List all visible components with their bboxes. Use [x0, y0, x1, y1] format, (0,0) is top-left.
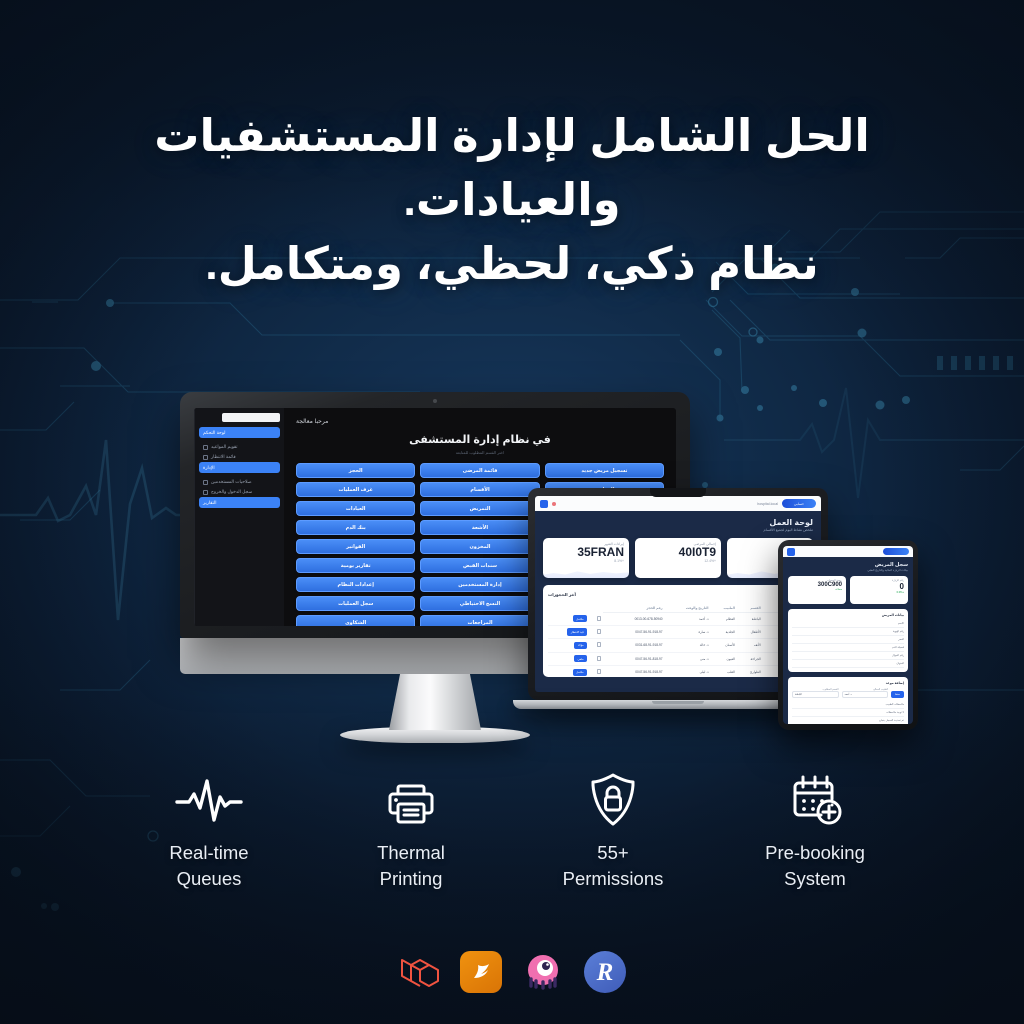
- sidebar-group-header[interactable]: الإدارة: [199, 462, 280, 473]
- stat-card-delta: +12.4%: [640, 559, 716, 563]
- monitor-stand-neck: [389, 674, 481, 730]
- table-row[interactable]: 09005-0046الجراحةالعيوند. منى0047-56-91-…: [548, 652, 808, 665]
- notification-dot-icon: [552, 502, 556, 506]
- sidebar-item-icon: [203, 490, 208, 495]
- document-icon: [597, 642, 601, 647]
- save-appointment-button[interactable]: حفظ: [891, 691, 904, 698]
- sidebar-menu-item[interactable]: قائمة الانتظار: [199, 452, 280, 462]
- stat-card: إيرادات الشهر35FRAN+8.1%: [543, 538, 629, 578]
- sidebar-groups: لوحة التحكمتقويم المواعيدقائمة الانتظارا…: [199, 427, 280, 508]
- calendar-plus-icon: [785, 772, 845, 828]
- form-footer-status: تم تحديث السجل بنجاح: [792, 717, 904, 724]
- monitor-subtitle: اختر القسم المطلوب للمتابعة: [296, 450, 664, 455]
- appointment-form-title: إضافة موعد: [792, 681, 904, 685]
- row-status-cell: مكتمل: [548, 613, 589, 626]
- table-cell: الأنف: [737, 639, 763, 652]
- status-badge[interactable]: مكتمل: [573, 615, 588, 622]
- document-icon: [597, 656, 601, 661]
- filament-logo[interactable]: [460, 951, 502, 993]
- reverb-glyph: R: [597, 960, 614, 985]
- row-status-cell: قيد الانتظار: [548, 625, 589, 638]
- chrome-url-text: hospital.local: [757, 502, 778, 506]
- sparkline-chart: [543, 567, 629, 578]
- tablet-stat-card: رقم الزيارة0+0.0%: [850, 576, 908, 604]
- feature-label-line1: Pre-booking: [765, 840, 865, 866]
- monitor-grid-button[interactable]: الفواتير: [296, 539, 415, 554]
- chrome-right-group: hospital.local حسابي: [757, 499, 816, 508]
- table-cell: د. سارة: [665, 625, 711, 638]
- tablet-stat-delta: محدّث: [792, 588, 842, 591]
- table-cell: د. أحمد: [665, 613, 711, 626]
- stat-card-delta: +8.1%: [548, 559, 624, 563]
- reverb-logo[interactable]: R: [584, 951, 626, 993]
- webcam-icon: [433, 399, 437, 403]
- monitor-grid-button[interactable]: سجل العمليات: [296, 596, 415, 611]
- document-icon: [597, 669, 601, 674]
- feature-label-line2: Printing: [377, 866, 445, 892]
- feature-label-line2: Queues: [169, 866, 248, 892]
- doctor-field-input[interactable]: د. أحمد: [842, 691, 889, 698]
- tablet-bezel: سجل المريض بيانات الزيارة الحالية والتار…: [778, 540, 918, 730]
- table-cell: الطوارئ: [737, 666, 763, 678]
- table-row[interactable]: 00009090-5608الباطنةالعظامد. أحمد0013-00…: [548, 613, 808, 626]
- tablet-stat-row: رقم الزيارة0+0.0%رصيد الحساب300C900محدّث: [788, 576, 908, 604]
- status-badge[interactable]: ملغي: [574, 655, 587, 662]
- feature-label: 55+ Permissions: [563, 840, 664, 893]
- table-cell: 0031-68-91-918-97: [603, 639, 665, 652]
- sidebar-menu-item[interactable]: سجل الدخول والخروج: [199, 487, 280, 497]
- monitor-grid-button[interactable]: قائمة المرضى: [420, 463, 539, 478]
- account-button[interactable]: حسابي: [782, 499, 816, 508]
- table-column-header: الطبيب: [711, 603, 737, 613]
- tablet-header-subtitle: بيانات الزيارة الحالية والتاريخ الطبي: [788, 568, 908, 572]
- status-badge[interactable]: مكتمل: [573, 669, 588, 676]
- table-cell: 0047-56-91-918-97: [603, 666, 665, 678]
- laptop-notch: [650, 488, 706, 497]
- row-document-icon: [589, 625, 603, 638]
- patient-info-line: رقم الجوال: [792, 652, 904, 660]
- table-column-header: رقم الحجز: [603, 603, 665, 613]
- monitor-grid-button[interactable]: بنك الدم: [296, 520, 415, 535]
- shield-lock-icon: [587, 772, 639, 828]
- feature-row: Real-time Queues Thermal Printing: [0, 772, 1024, 912]
- feature-label-line1: Real-time: [169, 840, 248, 866]
- stat-card: إجمالي المرضى40I0T9+12.4%: [635, 538, 721, 578]
- tablet-device: سجل المريض بيانات الزيارة الحالية والتار…: [778, 540, 918, 730]
- document-icon: [597, 629, 601, 634]
- table-cell: الأطفال: [737, 625, 763, 638]
- row-status-cell: ملغي: [548, 652, 589, 665]
- patient-info-line: العنوان: [792, 660, 904, 668]
- sidebar-item-icon: [203, 455, 208, 460]
- row-document-icon: [589, 613, 603, 626]
- feature-label-line1: 55+: [563, 840, 664, 866]
- tablet-content: سجل المريض بيانات الزيارة الحالية والتار…: [783, 557, 913, 724]
- tablet-stat-delta: +0.0%: [854, 591, 904, 594]
- patient-info-lines: الاسمرقم الهويةالعمرفصيلة الدمرقم الجوال…: [792, 620, 904, 668]
- sidebar-item-label: سجل الدخول والخروج: [211, 489, 252, 495]
- monitor-grid-button[interactable]: التمريض: [420, 501, 539, 516]
- monitor-sidebar[interactable]: لوحة التحكمتقويم المواعيدقائمة الانتظارا…: [194, 408, 284, 626]
- status-badge[interactable]: قيد الانتظار: [567, 628, 587, 635]
- table-cell: العيون: [711, 652, 737, 665]
- sidebar-menu-item[interactable]: صلاحيات المستخدمين: [199, 477, 280, 487]
- sidebar-item-label: صلاحيات المستخدمين: [211, 479, 252, 485]
- headline-line-1: الحل الشامل لإدارة المستشفيات والعيادات.: [154, 110, 870, 225]
- monitor-grid-button[interactable]: سندات القبض: [420, 558, 539, 573]
- stat-card-row: حجوزات اليوم0+0.0%إجمالي المرضى40I0T9+12…: [543, 538, 813, 578]
- monitor-grid-button[interactable]: تقارير يومية: [296, 558, 415, 573]
- feature-label-line2: System: [765, 866, 865, 892]
- sidebar-menu-item[interactable]: تقويم المواعيد: [199, 442, 280, 452]
- table-row[interactable]: 00409045-5004الطوارئالقلبد. ليلى0047-56-…: [548, 666, 808, 678]
- sidebar-search-bar[interactable]: [222, 413, 280, 422]
- feature-label: Real-time Queues: [169, 840, 248, 893]
- table-cell: 0047-56-91-918-97: [603, 625, 665, 638]
- app-logo-icon: [540, 500, 548, 508]
- table-cell: الجلدية: [711, 625, 737, 638]
- table-cell: القلب: [711, 666, 737, 678]
- printer-icon: [383, 772, 439, 828]
- monitor-grid-button[interactable]: المراجعات: [420, 615, 539, 626]
- table-cell: د. خالد: [665, 639, 711, 652]
- monitor-grid-button[interactable]: الأقسام: [420, 482, 539, 497]
- sidebar-group-header[interactable]: لوحة التحكم: [199, 427, 280, 438]
- sidebar-item-label: تقويم المواعيد: [211, 444, 238, 450]
- tablet-browser-chrome: [783, 546, 913, 557]
- bookings-table-card: حجز جديد آخر الحجوزات الحالةالقسمالطبيبا…: [543, 585, 813, 677]
- feature-label-line1: Thermal: [377, 840, 445, 866]
- monitor-grid-button[interactable]: العيادات: [296, 501, 415, 516]
- feature-label: Pre-booking System: [765, 840, 865, 893]
- sidebar-item-icon: [203, 480, 208, 485]
- monitor-grid-button[interactable]: الشكاوى: [296, 615, 415, 626]
- feature-permissions: 55+ Permissions: [512, 772, 714, 893]
- monitor-topbar-text: مرحبا معالجة: [296, 418, 664, 425]
- sidebar-item-label: قائمة الانتظار: [211, 454, 236, 460]
- patient-info-line: فصيلة الدم: [792, 644, 904, 652]
- appointment-form-row: حفظ الطبيب المعالج د. أحمد القسم المطلوب…: [792, 688, 904, 698]
- patient-info-panel: بيانات المريض الاسمرقم الهويةالعمرفصيلة …: [788, 609, 908, 672]
- monitor-grid-button[interactable]: المخزون: [420, 539, 539, 554]
- feature-real-time-queues: Real-time Queues: [108, 772, 310, 893]
- row-document-icon: [589, 639, 603, 652]
- table-row[interactable]: 00405-95204الأطفالالجلديةد. سارة0047-56-…: [548, 625, 808, 638]
- dashboard-title: لوحة العمل: [543, 518, 813, 527]
- feature-label-line2: Permissions: [563, 866, 664, 892]
- document-icon: [597, 616, 601, 621]
- table-body: 00009090-5608الباطنةالعظامد. أحمد0013-00…: [548, 613, 808, 678]
- dashboard-subtitle: ملخص نشاط اليوم لجميع الأقسام: [543, 528, 813, 532]
- stat-card-value: 40I0T9: [640, 546, 716, 559]
- patient-info-title: بيانات المريض: [792, 613, 904, 617]
- monitor-grid-button[interactable]: الحجز: [296, 463, 415, 478]
- page-title: الحل الشامل لإدارة المستشفيات والعيادات.…: [40, 104, 984, 296]
- table-row[interactable]: 00009041-5008الأنفالأسناند. خالد0031-68-…: [548, 639, 808, 652]
- tablet-account-button[interactable]: [883, 548, 909, 555]
- table-column-header: القسم: [737, 603, 763, 613]
- notes-value[interactable]: لا توجد ملاحظات: [792, 709, 904, 717]
- table-cell: الجراحة: [737, 652, 763, 665]
- stat-card-value: 35FRAN: [548, 546, 624, 559]
- table-cell: الأسنان: [711, 639, 737, 652]
- monitor-grid-button[interactable]: الأشعة: [420, 520, 539, 535]
- tablet-stat-value: 0: [854, 582, 904, 591]
- headline-line-2: نظام ذكي، لحظي، ومتكامل.: [40, 232, 984, 296]
- sidebar-group-header[interactable]: التقارير: [199, 497, 280, 508]
- table-column-headers: الحالةالقسمالطبيبالتاريخ والوقترقم الحجز: [548, 603, 808, 613]
- monitor-title: في نظام إدارة المستشفى: [296, 433, 664, 446]
- appointment-form-panel: إضافة موعد حفظ الطبيب المعالج د. أحمد ال…: [788, 677, 908, 724]
- device-mockups: مرحبا معالجة في نظام إدارة المستشفى اختر…: [0, 380, 1024, 750]
- tablet-screen: سجل المريض بيانات الزيارة الحالية والتار…: [783, 546, 913, 724]
- table-cell: الباطنة: [737, 613, 763, 626]
- octane-logo[interactable]: [522, 951, 564, 993]
- tablet-app-logo-icon: [787, 548, 795, 556]
- feature-thermal-printing: Thermal Printing: [310, 772, 512, 893]
- patient-info-line: رقم الهوية: [792, 628, 904, 636]
- laravel-logo[interactable]: [398, 951, 440, 993]
- monitor-grid-button[interactable]: إدارة المستخدمين: [420, 577, 539, 592]
- monitor-grid-button[interactable]: النسخ الاحتياطي: [420, 596, 539, 611]
- sidebar-item-icon: [203, 445, 208, 450]
- row-document-icon: [589, 652, 603, 665]
- feature-label: Thermal Printing: [377, 840, 445, 893]
- doctor-field: الطبيب المعالج د. أحمد: [842, 688, 889, 698]
- status-badge[interactable]: مؤكد: [574, 642, 587, 649]
- table-header-row: حجز جديد آخر الحجوزات: [548, 590, 808, 599]
- monitor-grid-button[interactable]: تسجيل مريض جديد: [545, 463, 664, 478]
- laptop-browser-chrome: hospital.local حسابي: [535, 496, 821, 511]
- table-cell: العظام: [711, 613, 737, 626]
- monitor-grid-button[interactable]: غرف العمليات: [296, 482, 415, 497]
- table-title: آخر الحجوزات: [548, 592, 576, 597]
- patient-info-line: العمر: [792, 636, 904, 644]
- notes-label: ملاحظات الطبيب: [792, 701, 904, 709]
- monitor-grid-button[interactable]: إعدادات النظام: [296, 577, 415, 592]
- table-cell: 0047-56-91-818-97: [603, 652, 665, 665]
- table-cell: 0013-00-678-50940: [603, 613, 665, 626]
- row-status-cell: مؤكد: [548, 639, 589, 652]
- tech-stack-logos: R: [0, 944, 1024, 1000]
- department-field-input[interactable]: الباطنة: [792, 691, 839, 698]
- table-column-header: التاريخ والوقت: [665, 603, 711, 613]
- chrome-left-group: [540, 500, 556, 508]
- table-cell: د. ليلى: [665, 666, 711, 678]
- patient-info-line: الاسم: [792, 620, 904, 628]
- tablet-stat-card: رصيد الحساب300C900محدّث: [788, 576, 846, 604]
- row-status-cell: مكتمل: [548, 666, 589, 678]
- pulse-icon: [173, 772, 245, 828]
- row-document-icon: [589, 666, 603, 678]
- feature-pre-booking: Pre-booking System: [714, 772, 916, 893]
- table-cell: د. منى: [665, 652, 711, 665]
- department-field: القسم المطلوب الباطنة: [792, 688, 839, 698]
- bookings-table: الحالةالقسمالطبيبالتاريخ والوقترقم الحجز…: [548, 603, 808, 677]
